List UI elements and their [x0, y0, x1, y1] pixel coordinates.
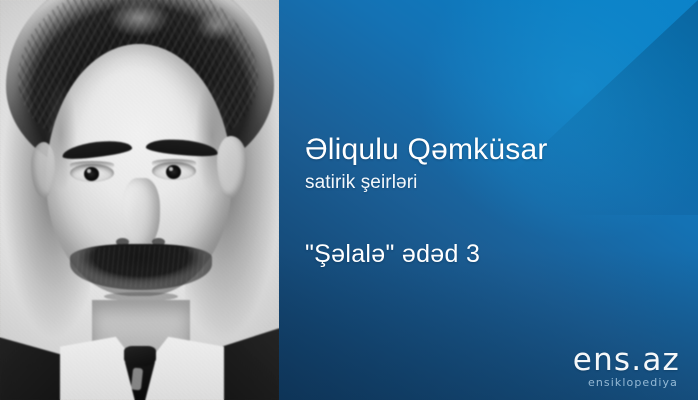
page-subtitle: satirik şeirləri	[305, 171, 678, 195]
article-banner-card: Əliqulu Qəmküsar satirik şeirləri "Şəlal…	[0, 0, 698, 400]
issue-label: "Şəlalə" ədəd 3	[305, 239, 678, 269]
eye-left	[70, 164, 114, 182]
hair-highlight-right	[188, 6, 242, 46]
iris-left	[84, 167, 99, 181]
page-title: Əliqulu Qəmküsar	[305, 132, 678, 167]
eye-right	[152, 162, 196, 180]
site-logo[interactable]: ens.az ensiklopediya	[573, 345, 680, 388]
eyelid-left	[70, 161, 114, 168]
heading-block: Əliqulu Qəmküsar satirik şeirləri "Şəlal…	[305, 132, 678, 269]
mustache-texture	[74, 246, 208, 288]
logo-wordmark: ens.az	[573, 345, 680, 376]
logo-tagline: ensiklopediya	[573, 377, 678, 388]
eyelid-right	[152, 159, 196, 166]
iris-right	[166, 165, 181, 179]
necktie-knot	[124, 346, 156, 366]
blue-gradient-panel: Əliqulu Qəmküsar satirik şeirləri "Şəlal…	[279, 0, 698, 400]
portrait-photo	[0, 0, 279, 400]
